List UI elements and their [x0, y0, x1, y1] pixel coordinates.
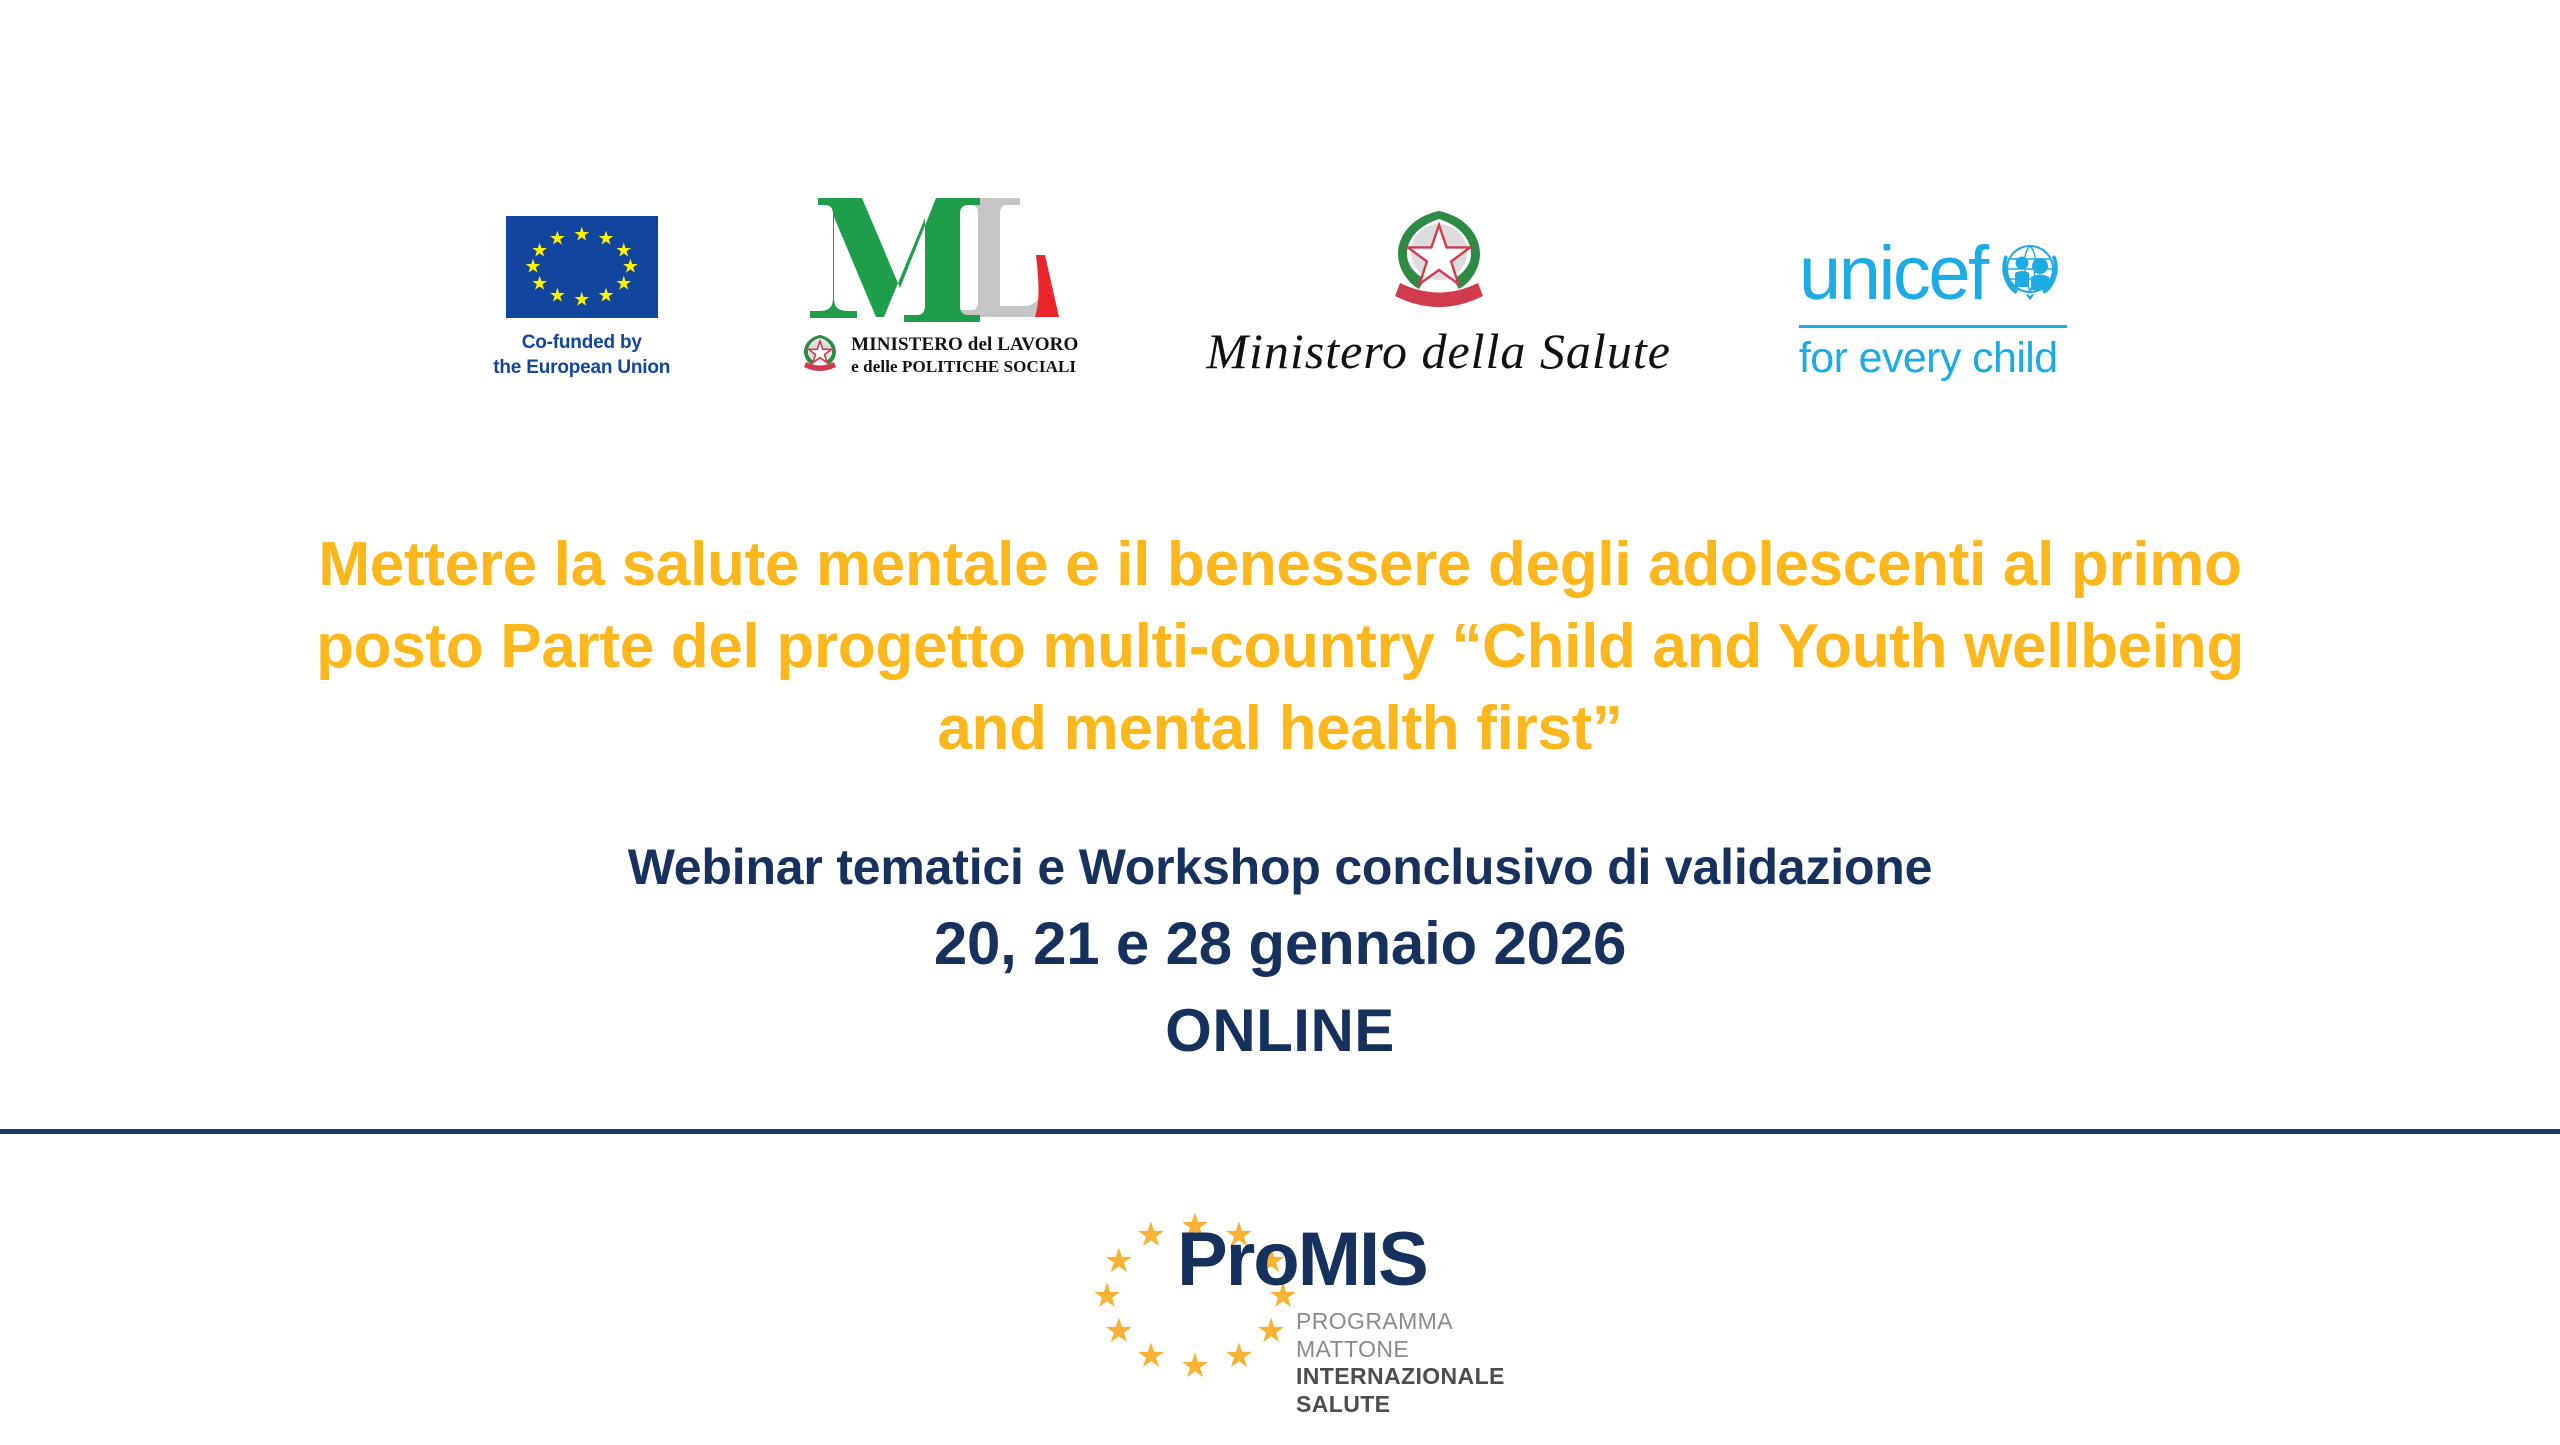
european-union-flag-icon: ★ ★ ★ ★ ★ ★ ★ ★ ★ ★ ★ ★	[506, 216, 658, 318]
italian-republic-emblem-icon	[798, 331, 842, 380]
eu-logo-caption: Co-funded by the European Union	[493, 331, 670, 380]
headline-line-1: Mettere la salute mentale e il benessere…	[128, 524, 2432, 606]
headline-line-2: posto Parte del progetto multi-country “…	[128, 606, 2432, 688]
promis-subtitle-line2: INTERNAZIONALE SALUTE	[1296, 1363, 1505, 1418]
eu-caption-line1: Co-funded by	[493, 331, 670, 355]
promis-logo-area: ★ ★ ★ ★ ★ ★ ★ ★ ★ ★ ★ ★ ProMIS PROGRAMMA…	[0, 1208, 2560, 1388]
event-headline: Mettere la salute mentale e il benessere…	[128, 524, 2432, 769]
italian-republic-emblem-icon	[1384, 203, 1494, 320]
promis-subtitle: PROGRAMMA MATTONE INTERNAZIONALE SALUTE	[1296, 1308, 1505, 1418]
partner-logo-bar: ★ ★ ★ ★ ★ ★ ★ ★ ★ ★ ★ ★ Co-funded by the…	[0, 140, 2560, 380]
event-location: ONLINE	[128, 993, 2432, 1068]
ml-monogram-icon	[808, 192, 1068, 327]
ministero-salute-wordmark: Ministero della Salute	[1206, 322, 1671, 380]
headline-line-3: and mental health first”	[128, 688, 2432, 770]
horizontal-divider	[0, 1129, 2560, 1134]
promis-logo: ★ ★ ★ ★ ★ ★ ★ ★ ★ ★ ★ ★ ProMIS PROGRAMMA…	[1085, 1208, 1475, 1388]
event-details: Webinar tematici e Workshop conclusivo d…	[128, 838, 2432, 1068]
ministero-salute-logo: Ministero della Salute	[1206, 203, 1671, 380]
unicef-logo: unicef	[1799, 235, 2067, 380]
eu-caption-line2: the European Union	[493, 356, 670, 380]
eu-logo: ★ ★ ★ ★ ★ ★ ★ ★ ★ ★ ★ ★ Co-funded by the…	[493, 216, 670, 380]
event-dates: 20, 21 e 28 gennaio 2026	[128, 906, 2432, 983]
ml-text-line1: MINISTERO del LAVORO	[851, 334, 1078, 357]
promis-subtitle-line1: PROGRAMMA MATTONE	[1296, 1308, 1505, 1363]
ml-text-line2: e delle POLITICHE SOCIALI	[851, 357, 1078, 377]
unicef-wordmark: unicef	[1799, 240, 1987, 308]
promis-wordmark: ProMIS	[1177, 1222, 1427, 1298]
unicef-tagline: for every child	[1799, 337, 2058, 380]
event-type-label: Webinar tematici e Workshop conclusivo d…	[128, 838, 2432, 897]
unicef-emblem-icon	[1993, 235, 2067, 314]
ministero-lavoro-logo: MINISTERO del LAVORO e delle POLITICHE S…	[798, 192, 1078, 380]
unicef-divider	[1799, 325, 2067, 328]
